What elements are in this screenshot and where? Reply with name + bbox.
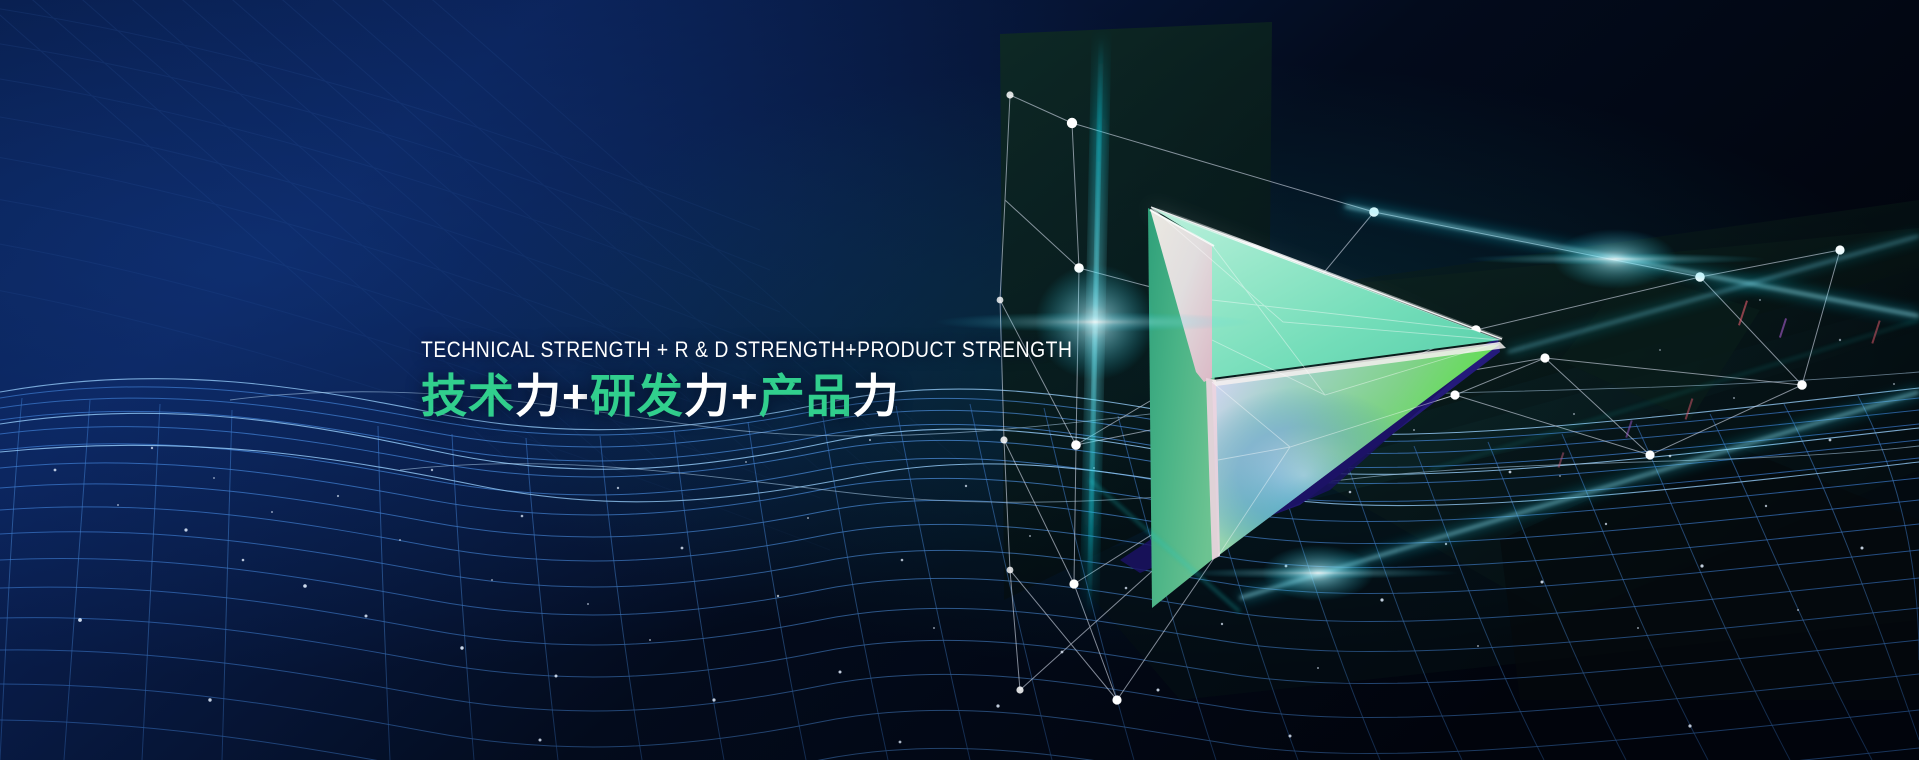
lower-green-triangle [1212,344,1500,556]
upper-mint-triangle [1152,208,1500,378]
title-segment-2: + [562,370,590,422]
indigo-shadow-wedge [1150,338,1500,560]
headline-kicker: TECHNICAL STRENGTH + R & D STRENGTH+PROD… [421,338,1072,363]
title-segment-7: 力 [853,370,900,422]
diagonal-cyan-beam-bottom [1178,392,1919,601]
accent-tick-marks [1558,300,1881,468]
teal-streaks [1090,320,1919,612]
diagonal-cyan-beam-right [1345,206,1919,316]
title-segment-1: 力 [515,370,562,422]
title-segment-0: 技术 [421,370,515,422]
headline-title: 技术力+研发力+产品力 [421,369,1179,423]
headline-block: TECHNICAL STRENGTH + R & D STRENGTH+PROD… [421,338,1179,423]
title-segment-5: + [731,370,759,422]
title-segment-4: 力 [684,370,731,422]
diagonal-cyan-beam-mid [1508,236,1919,352]
vertical-cyan-beam [935,30,1255,620]
title-segment-3: 研发 [590,370,684,422]
hero-banner: TECHNICAL STRENGTH + R & D STRENGTH+PROD… [0,0,1919,760]
title-segment-6: 产品 [759,370,853,422]
